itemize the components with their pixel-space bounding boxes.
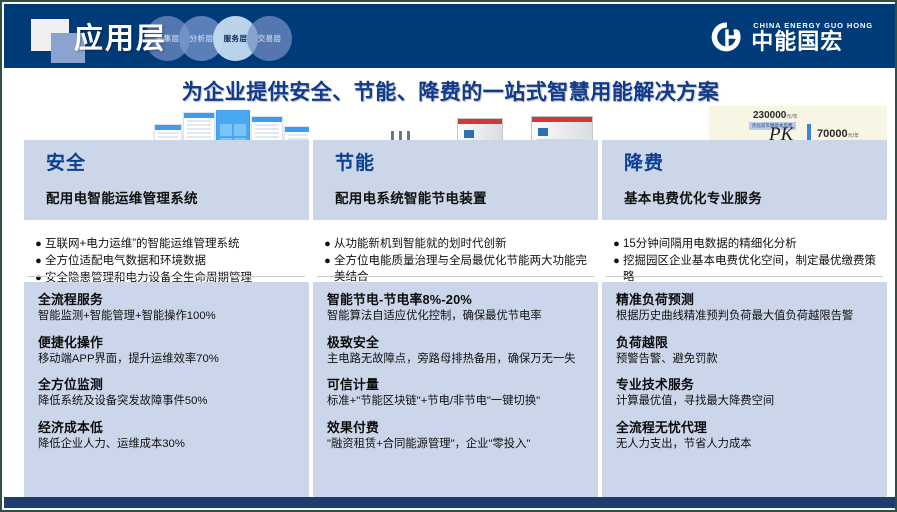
pk-upper-number: 230000 [753,110,786,121]
feature-item: 全流程无忧代理 无人力支出，节省人力成本 [616,419,873,453]
column-subheading: 配用电智能运维管理系统 [46,187,287,207]
company-mark-icon [710,20,744,54]
feature-title: 精准负荷预测 [616,291,873,308]
bullet-text: 15分钟间隔用电数据的精细化分析 [623,236,797,252]
bullet-dot-icon: ● [321,236,334,252]
feature-title: 极致安全 [327,334,584,351]
feature-body: 无人力支出，节省人力成本 [616,437,873,453]
list-item: ●全方位适配电气数据和环境数据 [32,253,303,269]
bullet-dot-icon: ● [32,253,45,269]
feature-item: 专业技术服务 计算最优值，寻找最大降费空间 [616,376,873,410]
bullet-dot-icon: ● [32,236,45,252]
layer-circle-label: 交易层 [258,33,282,44]
list-item: ●互联网+电力运维”的智能运维管理系统 [32,236,303,252]
pk-upper-unit: 元/年 [786,114,797,120]
layer-title: 应用层 [74,15,167,57]
columns-container: 安全 配用电智能运维管理系统 ●互联网+电力运维”的智能运维管理系统 ●全方位适… [2,110,897,510]
down-arrow-icon [807,124,811,140]
feature-title: 全流程无忧代理 [616,419,873,436]
column-panel: 精准负荷预测 根据历史曲线精准预判负荷最大值负荷越限告警 负荷越限 预警告警、避… [602,282,887,504]
column-bullets: ●15分钟间隔用电数据的精细化分析 ●挖掘园区企业基本电费优化空间，制定最优缴费… [602,230,887,286]
feature-body: 智能算法自适应优化控制，确保最优节电率 [327,309,584,325]
feature-body: "融资租赁+合同能源管理"，企业"零投入" [327,437,584,453]
footer-bar [4,497,895,508]
feature-body: 主电路无故障点，旁路母排热备用，确保万无一失 [327,352,584,368]
feature-body: 智能监测+智能管理+智能操作100% [38,309,295,325]
feature-item: 负荷越限 预警告警、避免罚款 [616,334,873,368]
pk-upper-value: 230000元/年 [753,110,798,121]
feature-item: 效果付费 "融资租赁+合同能源管理"，企业"零投入" [327,419,584,453]
column-heading: 节能 [335,148,576,175]
list-item: ●从功能新机到智能就的划时代创新 [321,236,592,252]
feature-item: 智能节电-节电率8%-20% 智能算法自适应优化控制，确保最优节电率 [327,291,584,325]
list-item: ●全方位电能质量治理与全局最优化节能两大功能完美结合 [321,253,592,285]
bullet-dot-icon: ● [610,253,623,269]
column-cost-reduction: 230000元/年 优化前年缴基本电费 PK 70000元/年 160000元/… [602,110,887,510]
pk-saving-value: 70000元/年 [817,128,859,140]
bullet-dot-icon: ● [610,236,623,252]
pk-saving-unit: 元/年 [848,133,859,139]
bullet-dot-icon: ● [321,253,334,269]
pk-saving-number: 70000 [817,128,848,140]
layer-circles: 采集层 分析层 服务层 交易层 [145,16,305,61]
feature-title: 全方位监测 [38,376,295,393]
layer-circle-label: 分析层 [190,33,214,44]
brand-logo: CHINA ENERGY GUO HONG 中能国宏 [710,16,873,58]
feature-body: 计算最优值，寻找最大降费空间 [616,394,873,410]
feature-title: 全流程服务 [38,291,295,308]
column-subheading: 配用电系统智能节电装置 [335,187,576,207]
feature-title: 可信计量 [327,376,584,393]
column-safety: 安全 配用电智能运维管理系统 ●互联网+电力运维”的智能运维管理系统 ●全方位适… [24,110,309,510]
feature-item: 精准负荷预测 根据历史曲线精准预判负荷最大值负荷越限告警 [616,291,873,325]
feature-body: 根据历史曲线精准预判负荷最大值负荷越限告警 [616,309,873,325]
feature-item: 可信计量 标准+"节能区块链"+节电/非节电"一键切换" [327,376,584,410]
bullet-text: 全方位适配电气数据和环境数据 [45,253,206,269]
feature-item: 经济成本低 降低企业人力、运维成本30% [38,419,295,453]
column-caption: 降费 基本电费优化专业服务 [602,140,887,220]
bullet-text: 从功能新机到智能就的划时代创新 [334,236,507,252]
feature-item: 全方位监测 降低系统及设备突发故障事件50% [38,376,295,410]
feature-body: 标准+"节能区块链"+节电/非节电"一键切换" [327,394,584,410]
column-caption: 节能 配用电系统智能节电装置 [313,140,598,220]
feature-title: 负荷越限 [616,334,873,351]
feature-item: 极致安全 主电路无故障点，旁路母排热备用，确保万无一失 [327,334,584,368]
column-caption: 安全 配用电智能运维管理系统 [24,140,309,220]
bullet-text: 挖掘园区企业基本电费优化空间，制定最优缴费策略 [623,253,881,285]
feature-title: 效果付费 [327,419,584,436]
column-heading: 安全 [46,148,287,175]
column-panel: 全流程服务 智能监测+智能管理+智能操作100% 便捷化操作 移动端APP界面，… [24,282,309,504]
column-heading: 降费 [624,148,865,175]
divider [606,276,883,277]
feature-title: 经济成本低 [38,419,295,436]
feature-body: 预警告警、避免罚款 [616,352,873,368]
feature-body: 移动端APP界面，提升运维效率70% [38,352,295,368]
column-energy-saving: 节能 配用电系统智能节电装置 ●从功能新机到智能就的划时代创新 ●全方位电能质量… [313,110,598,510]
divider [28,276,305,277]
page-title: 为企业提供安全、节能、降费的一站式智慧用能解决方案 [2,76,897,106]
divider [317,276,594,277]
feature-item: 便捷化操作 移动端APP界面，提升运维效率70% [38,334,295,368]
layer-circle-transaction[interactable]: 交易层 [247,16,292,61]
layer-circle-label: 服务层 [224,33,248,44]
feature-body: 降低系统及设备突发故障事件50% [38,394,295,410]
column-bullets: ●从功能新机到智能就的划时代创新 ●全方位电能质量治理与全局最优化节能两大功能完… [313,230,598,286]
bullet-text: 全方位电能质量治理与全局最优化节能两大功能完美结合 [334,253,592,285]
feature-title: 专业技术服务 [616,376,873,393]
feature-body: 降低企业人力、运维成本30% [38,437,295,453]
header-bar: 采集层 分析层 服务层 交易层 应用层 CHINA ENERGY GUO HON… [4,4,895,68]
bullet-text: 互联网+电力运维”的智能运维管理系统 [45,236,240,252]
list-item: ●挖掘园区企业基本电费优化空间，制定最优缴费策略 [610,253,881,285]
list-item: ●15分钟间隔用电数据的精细化分析 [610,236,881,252]
feature-title: 便捷化操作 [38,334,295,351]
feature-item: 全流程服务 智能监测+智能管理+智能操作100% [38,291,295,325]
column-panel: 智能节电-节电率8%-20% 智能算法自适应优化控制，确保最优节电率 极致安全 … [313,282,598,504]
column-bullets: ●互联网+电力运维”的智能运维管理系统 ●全方位适配电气数据和环境数据 ●安全隐… [24,230,309,287]
column-subheading: 基本电费优化专业服务 [624,187,865,207]
slide: 采集层 分析层 服务层 交易层 应用层 CHINA ENERGY GUO HON… [0,0,897,512]
feature-title: 智能节电-节电率8%-20% [327,291,584,308]
brand-cn: 中能国宏 [751,30,873,53]
